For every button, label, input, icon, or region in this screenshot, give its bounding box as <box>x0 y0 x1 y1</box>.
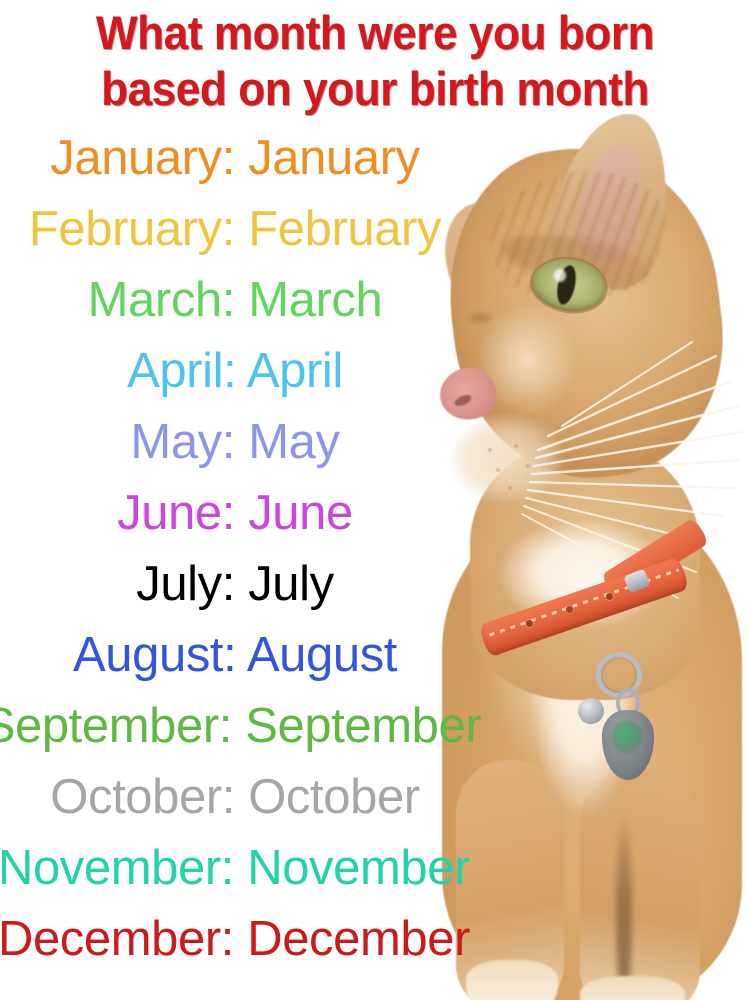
month-row-september: September: September <box>0 691 482 762</box>
cat-paw-right <box>580 976 685 1000</box>
cat-whisker-pad <box>476 440 568 500</box>
cat-brow <box>499 225 655 296</box>
cat-collar-ring <box>596 652 642 698</box>
cat-tag-clasp <box>616 688 640 718</box>
cat-head <box>433 133 739 493</box>
cat-whiskers <box>430 120 750 680</box>
month-row-june: June: June <box>0 478 470 549</box>
cat-id-tag <box>602 710 654 780</box>
month-row-december: December: December <box>0 904 480 975</box>
cat-neck-ruff <box>488 515 678 645</box>
cat-eye <box>527 252 610 318</box>
month-row-october: October: October <box>0 762 470 833</box>
month-row-january: January: January <box>0 123 470 194</box>
cat-collar-hole <box>566 606 573 613</box>
cat-neck <box>470 440 700 700</box>
cat-collar <box>478 556 690 657</box>
meme-image: What month were you born based on your b… <box>0 0 750 1000</box>
title-line-2: based on your birth month <box>23 60 728 116</box>
cat-collar-stitching <box>489 569 679 637</box>
month-row-april: April: April <box>0 336 470 407</box>
month-row-february: February: February <box>0 194 470 265</box>
cat-ear-right <box>542 104 683 297</box>
month-row-august: August: August <box>0 620 470 691</box>
cat-chest-fur <box>522 550 647 880</box>
cat-collar-strap-upper <box>600 517 709 601</box>
cat-collar-hole <box>606 593 613 600</box>
month-row-november: November: November <box>0 833 480 904</box>
cat-id-tag-marking <box>612 720 642 754</box>
meme-title: What month were you born based on your b… <box>0 0 750 116</box>
month-list: January: January February: February Marc… <box>0 123 470 975</box>
cat-collar-bell <box>578 698 604 724</box>
cat-pupil <box>554 264 579 307</box>
month-row-march: March: March <box>0 265 470 336</box>
cat-eye-far <box>466 310 494 325</box>
title-line-1: What month were you born <box>23 0 728 60</box>
cat-collar-buckle <box>623 569 650 594</box>
cat-collar-hole <box>526 620 533 627</box>
cat-body <box>442 500 742 1000</box>
month-row-may: May: May <box>0 407 470 478</box>
cat-ear-inner <box>570 138 652 267</box>
cat-front-leg-right <box>580 768 700 1000</box>
cat-eye-glint <box>554 269 566 282</box>
month-row-july: July: July <box>0 549 470 620</box>
cat-tabby-stripes <box>482 160 678 314</box>
cat-leg-shadow <box>616 810 632 1000</box>
